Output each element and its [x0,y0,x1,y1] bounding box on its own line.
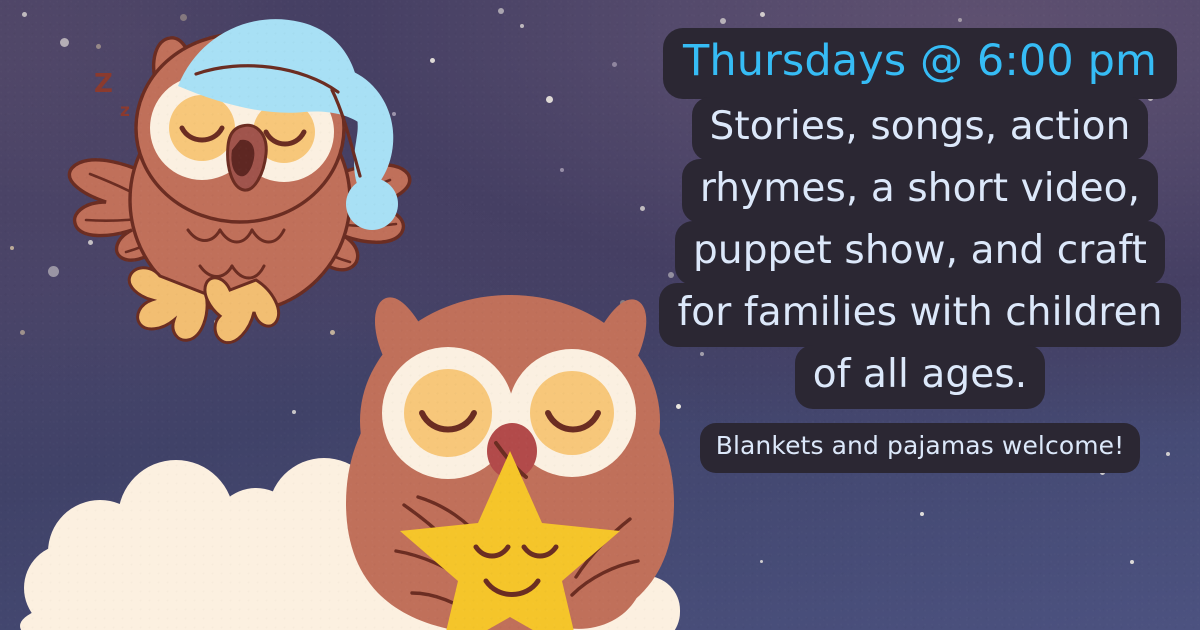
star-speck [760,12,765,17]
star-owl [300,255,720,630]
owl-iris-left [169,95,235,161]
star-speck [22,12,27,17]
star-owl-iris-right [530,371,614,455]
star-speck [920,512,924,516]
body-line-row-5: of all ages. [660,347,1180,409]
star-speck [520,24,524,28]
star-speck [560,168,564,172]
body-line-2: rhymes, a short video, [682,159,1158,223]
star-speck [48,266,59,277]
tagline-row: Blankets and pajamas welcome! [660,423,1180,473]
star-speck [640,206,645,211]
star-speck [1130,560,1134,564]
heading-row: Thursdays @ 6:00 pm [660,28,1180,99]
body-line-row-4: for families with children [660,285,1180,347]
poster-text-block: Thursdays @ 6:00 pm Stories, songs, acti… [660,28,1180,473]
sleep-marks-zzz: Z z [88,66,158,130]
star-speck [546,96,553,103]
heading-chip: Thursdays @ 6:00 pm [663,28,1177,99]
body-line-1: Stories, songs, action [692,97,1149,161]
body-line-3: puppet show, and craft [675,221,1165,285]
nightcap-pompom [346,178,398,230]
body-line-5: of all ages. [795,345,1046,409]
sleep-mark-big: Z [94,69,113,99]
star-speck [958,18,962,22]
star-speck [292,410,296,414]
star-speck [10,246,14,250]
star-speck [760,560,763,563]
star-speck [20,330,25,335]
poster-canvas: Z z [0,0,1200,630]
star-speck [612,62,617,67]
body-line-row-3: puppet show, and craft [660,223,1180,285]
body-line-row-2: rhymes, a short video, [660,161,1180,223]
star-speck [720,18,726,24]
star-speck [430,58,435,63]
body-line-row-1: Stories, songs, action [660,99,1180,161]
star-owl-iris-left [404,369,492,457]
body-line-4: for families with children [659,283,1180,347]
tagline-chip: Blankets and pajamas welcome! [700,423,1141,473]
sleep-mark-small: z [120,101,130,121]
star-speck [498,8,504,14]
